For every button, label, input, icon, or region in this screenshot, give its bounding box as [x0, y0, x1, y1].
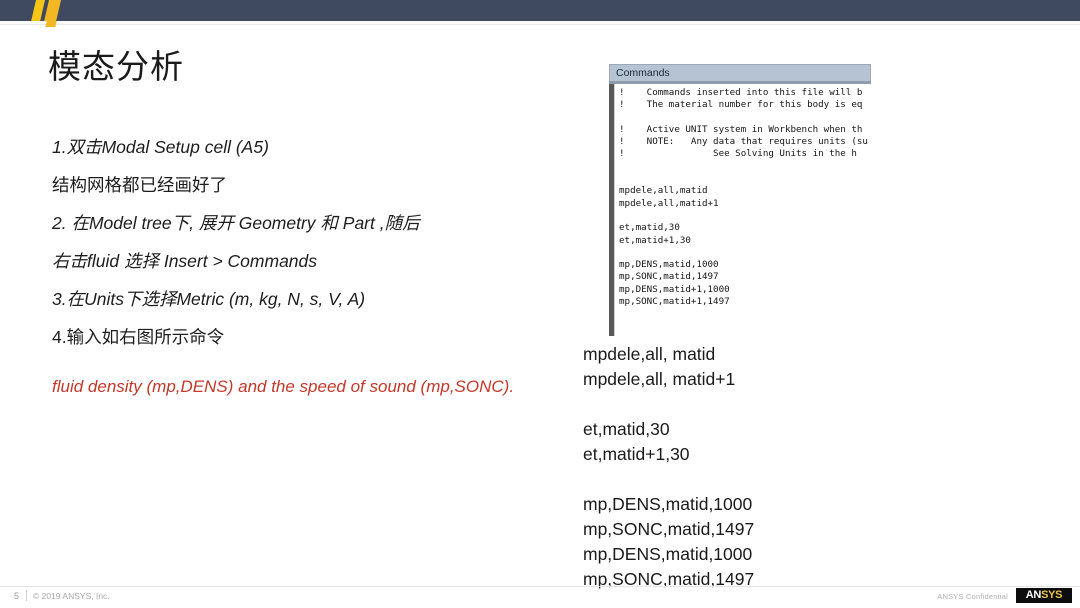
- commands-panel-code-line: mpdele,all,matid+1: [619, 198, 871, 210]
- commands-panel-code-line: [619, 112, 871, 124]
- command-list-line: mp,SONC,matid,1497: [583, 517, 983, 542]
- instruction-line-5: 3.在Units下选择Metric (m, kg, N, s, V, A): [52, 280, 572, 318]
- page-title: 模态分析: [48, 47, 184, 87]
- banner-accent-stripe-thin: [29, 0, 46, 21]
- commands-panel-code-line: ! Commands inserted into this file will …: [619, 87, 871, 99]
- commands-panel-code-line: mpdele,all,matid: [619, 185, 871, 197]
- commands-panel-code-line: [619, 173, 871, 185]
- command-list-line: et,matid,30: [583, 417, 983, 442]
- highlight-note: fluid density (mp,DENS) and the speed of…: [52, 368, 572, 406]
- commands-panel-code-line: mp,DENS,matid+1,1000: [619, 284, 871, 296]
- instruction-line-2: 结构网格都已经画好了: [52, 166, 572, 204]
- instruction-line-3: 2. 在Model tree下, 展开 Geometry 和 Part ,随后: [52, 204, 572, 242]
- ansys-logo-sys: SYS: [1041, 589, 1062, 601]
- footer-divider: [0, 586, 1080, 587]
- commands-panel: Commands ! Commands inserted into this f…: [609, 64, 871, 336]
- footer-confidential-label: ANSYS Confidential: [937, 592, 1008, 601]
- commands-panel-titlebar: Commands: [609, 64, 871, 81]
- ansys-logo: ANSYS: [1016, 588, 1072, 603]
- ansys-logo-an: AN: [1026, 589, 1041, 601]
- commands-panel-code[interactable]: ! Commands inserted into this file will …: [619, 87, 871, 308]
- commands-panel-body: ! Commands inserted into this file will …: [609, 84, 871, 336]
- command-list-line: mp,DENS,matid,1000: [583, 492, 983, 517]
- commands-panel-code-line: et,matid,30: [619, 222, 871, 234]
- command-list-line: et,matid+1,30: [583, 442, 983, 467]
- footer-copyright: © 2019 ANSYS, Inc.: [33, 591, 110, 601]
- commands-panel-code-line: mp,DENS,matid,1000: [619, 259, 871, 271]
- footer-page-number: 5: [14, 591, 19, 601]
- instruction-line-1: 1.双击Modal Setup cell (A5): [52, 128, 572, 166]
- banner-accent-stripe-tail: [45, 21, 56, 27]
- commands-panel-code-line: [619, 161, 871, 173]
- commands-panel-code-line: ! See Solving Units in the h: [619, 148, 871, 160]
- commands-panel-code-line: ! NOTE: Any data that requires units (su: [619, 136, 871, 148]
- top-banner: [0, 0, 1080, 21]
- banner-underline: [0, 21, 1080, 25]
- instruction-line-4: 右击fluid 选择 Insert > Commands: [52, 242, 572, 280]
- footer-separator: [26, 590, 27, 601]
- command-list-spacer: [583, 392, 983, 417]
- command-list-line: mp,SONC,matid,1497: [583, 567, 983, 592]
- instruction-list: 1.双击Modal Setup cell (A5) 结构网格都已经画好了 2. …: [52, 128, 572, 406]
- command-list-spacer: [583, 467, 983, 492]
- commands-panel-code-line: mp,SONC,matid,1497: [619, 271, 871, 283]
- instruction-line-6: 4.输入如右图所示命令: [52, 318, 572, 356]
- command-list-line: mpdele,all, matid: [583, 342, 983, 367]
- commands-panel-gutter: [609, 84, 615, 336]
- command-list-line: mpdele,all, matid+1: [583, 367, 983, 392]
- banner-accent-stripe-thick: [42, 0, 62, 21]
- commands-panel-title: Commands: [616, 67, 670, 79]
- commands-panel-code-line: et,matid+1,30: [619, 235, 871, 247]
- command-list: mpdele,all, matidmpdele,all, matid+1 et,…: [583, 342, 983, 592]
- commands-panel-code-line: [619, 247, 871, 259]
- commands-panel-code-line: ! The material number for this body is e…: [619, 99, 871, 111]
- commands-panel-code-line: mp,SONC,matid+1,1497: [619, 296, 871, 308]
- command-list-line: mp,DENS,matid,1000: [583, 542, 983, 567]
- commands-panel-code-line: [619, 210, 871, 222]
- commands-panel-code-line: ! Active UNIT system in Workbench when t…: [619, 124, 871, 136]
